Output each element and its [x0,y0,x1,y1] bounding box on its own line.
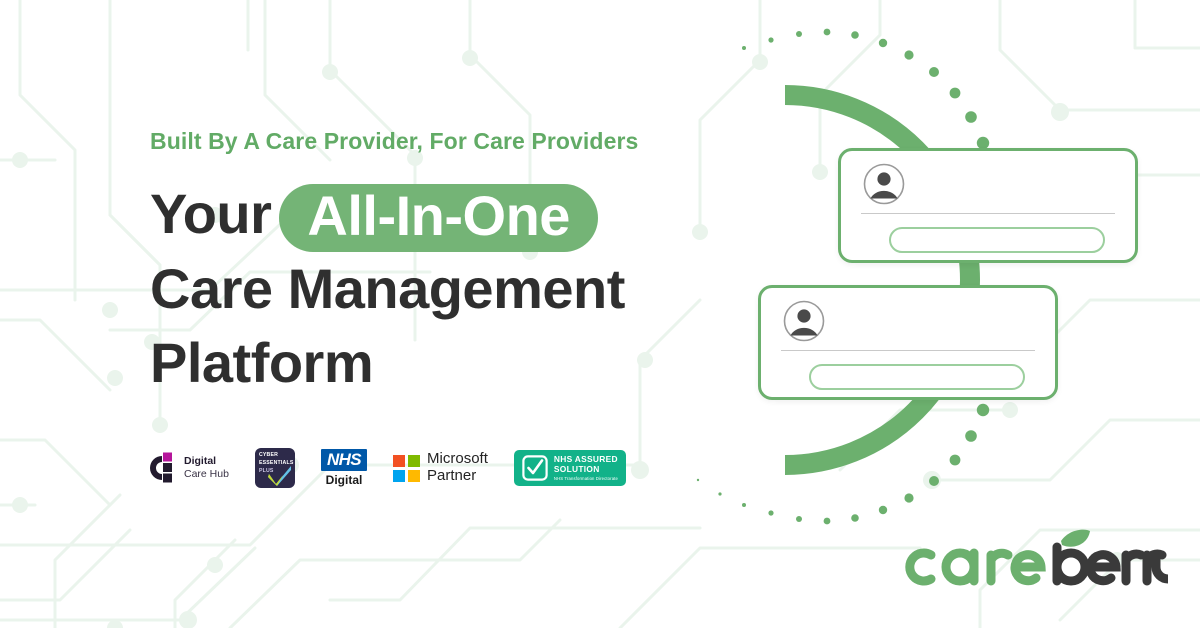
badge-line-2: Partner [427,468,488,485]
leaf-icon [1061,530,1090,547]
hero-banner: Built By A Care Provider, For Care Provi… [0,0,1200,628]
headline-line-1: YourAll-In-One [150,177,750,252]
hero-text-column: Built By A Care Provider, For Care Provi… [150,128,750,400]
microsoft-partner-label: Microsoft Partner [427,451,488,485]
user-avatar-icon [783,300,825,342]
card-divider [861,213,1115,214]
badge-cyber-essentials-plus[interactable]: CYBER ESSENTIALS PLUS [255,448,295,488]
headline-prefix: Your [150,182,271,245]
ms-square-yellow [408,470,420,482]
badge-line-1: CYBER [259,452,294,460]
ms-square-green [408,455,420,467]
nhs-logo-box: NHS [321,449,367,471]
headline-line-2: Care Management [150,252,750,326]
careberry-wordmark-icon [898,527,1168,595]
badge-line-2: SOLUTION [554,465,618,475]
hero-headline: YourAll-In-One Care Management Platform [150,177,750,400]
assured-check-icon [522,455,548,481]
badge-line-2: Care Hub [184,468,229,481]
headline-line-3: Platform [150,326,750,400]
badge-line-3: NHS Transformation Directorate [554,476,618,481]
nhs-digital-label: Digital [326,473,363,487]
user-avatar-icon [863,163,905,205]
digital-care-hub-label: Digital Care Hub [184,455,229,482]
ms-square-blue [393,470,405,482]
ms-square-red [393,455,405,467]
card-input-field[interactable] [809,364,1025,390]
profile-card-top[interactable] [838,148,1138,263]
card-input-field[interactable] [889,227,1105,253]
check-tick-icon [267,465,293,487]
card-divider [781,350,1035,351]
badge-line-1: Digital [184,455,229,468]
badge-nhs-assured-solution[interactable]: NHS ASSURED SOLUTION NHS Transformation … [514,450,626,486]
badge-digital-care-hub[interactable]: Digital Care Hub [148,452,229,484]
careberry-logo[interactable] [898,527,1168,595]
badge-nhs-digital[interactable]: NHS Digital [321,449,367,487]
badge-microsoft-partner[interactable]: Microsoft Partner [393,451,488,485]
digital-care-hub-mark-icon [148,452,178,484]
badge-line-1: Microsoft [427,451,488,468]
headline-pill-badge: All-In-One [279,184,598,252]
hero-eyebrow: Built By A Care Provider, For Care Provi… [150,128,750,155]
accreditation-badges: Digital Care Hub CYBER ESSENTIALS PLUS N… [148,448,626,488]
profile-card-bottom[interactable] [758,285,1058,400]
microsoft-logo-icon [393,455,420,482]
nhs-assured-label: NHS ASSURED SOLUTION NHS Transformation … [554,455,618,481]
